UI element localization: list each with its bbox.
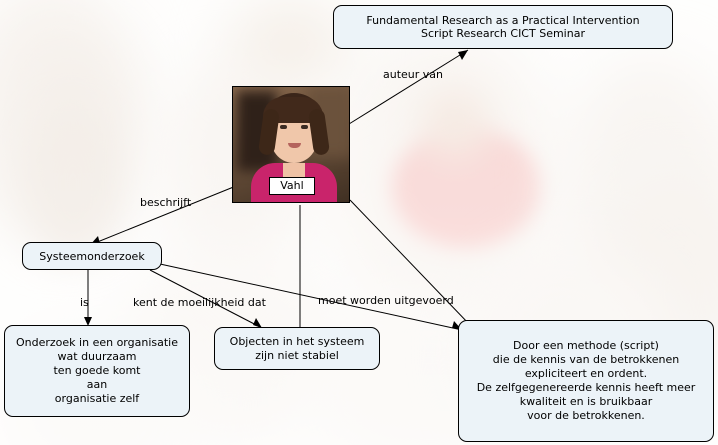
edge-auteur-van-line xyxy=(349,50,468,124)
edge-auteur-van-arrow xyxy=(458,50,468,60)
concept-map-canvas: Fundamental Research as a Practical Inte… xyxy=(0,0,718,445)
node-onderzoek-in-organisatie[interactable]: Onderzoek in een organisatie wat duurzaa… xyxy=(4,325,190,417)
edge-label-kent-de-moeilijkheid-dat: kent de moeilijkheid dat xyxy=(133,296,266,309)
edge-label-moet-worden-uitgevoerd: moet worden uitgevoerd xyxy=(318,294,454,307)
node-person-photo[interactable]: Vahl xyxy=(232,86,350,203)
edge-beschrijft-line xyxy=(90,186,236,245)
node-methode-script[interactable]: Door een methode (script) die de kennis … xyxy=(458,320,714,442)
person-name-label: Vahl xyxy=(269,177,315,195)
node-systeemonderzoek[interactable]: Systeemonderzoek xyxy=(22,242,162,270)
node-objecten-niet-stabiel[interactable]: Objecten in het systeem zijn niet stabie… xyxy=(214,327,380,370)
edge-label-is: is xyxy=(80,296,89,309)
node-paper[interactable]: Fundamental Research as a Practical Inte… xyxy=(333,5,673,49)
edge-label-auteur-van: auteur van xyxy=(383,68,443,81)
edge-label-beschrijft: beschrijft xyxy=(140,196,191,209)
